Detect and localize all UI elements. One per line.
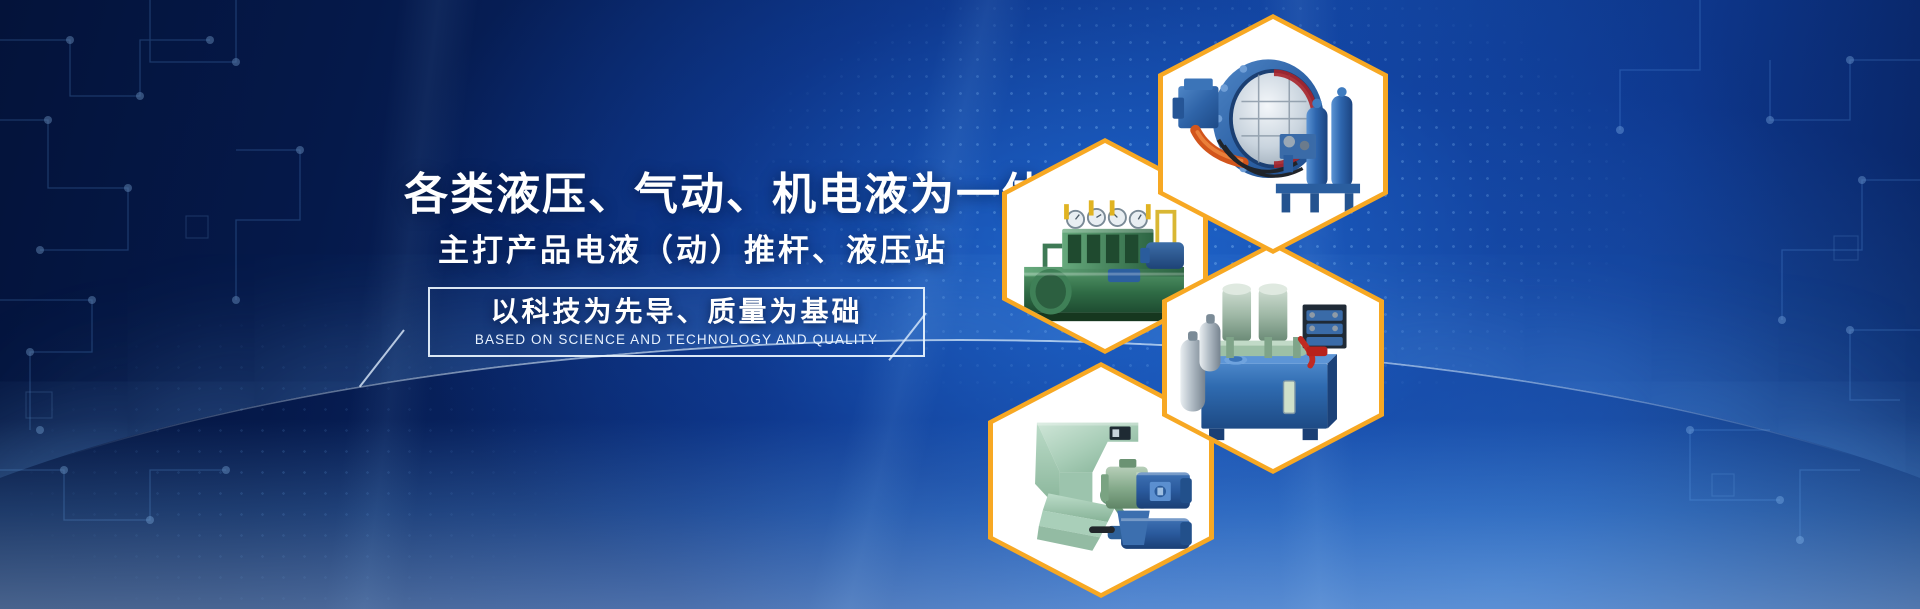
hexagon-frame (1158, 14, 1388, 254)
product-hexagon-hydraulic-power-unit[interactable] (1162, 242, 1384, 474)
product-hexagon-hydraulic-butterfly-valve[interactable] (1158, 14, 1388, 254)
banner-copy: 各类液压、气动、机电液为一体 主打产品电液（动）推杆、液压站 以科技为先导、质量… (0, 0, 1000, 609)
butterfly-valve-illustration (1163, 19, 1383, 249)
hexagon-frame (1162, 242, 1384, 474)
hydraulic-power-unit-illustration (1167, 247, 1379, 469)
diagonal-accent-left (359, 329, 405, 387)
hexagon-photo-hydraulic-power-unit (1167, 247, 1379, 469)
slogan-english: BASED ON SCIENCE AND TECHNOLOGY AND QUAL… (475, 332, 878, 347)
hexagon-photo-hydraulic-butterfly-valve (1163, 19, 1383, 249)
banner-headline: 各类液压、气动、机电液为一体 (404, 158, 1048, 222)
slogan-box: 以科技为先导、质量为基础 BASED ON SCIENCE AND TECHNO… (428, 287, 925, 357)
slogan-chinese: 以科技为先导、质量为基础 (490, 297, 862, 326)
hero-banner: 各类液压、气动、机电液为一体 主打产品电液（动）推杆、液压站 以科技为先导、质量… (0, 0, 1920, 609)
banner-subheadline: 主打产品电液（动）推杆、液压站 (438, 225, 948, 270)
